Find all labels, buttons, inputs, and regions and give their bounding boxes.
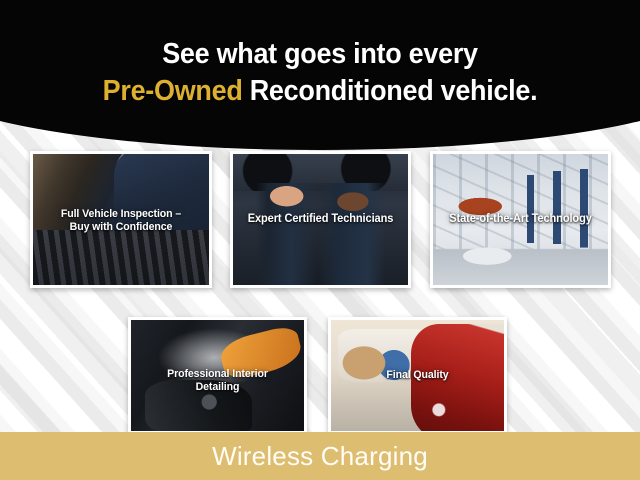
banner-label: Wireless Charging [212, 441, 428, 472]
headline-accent-text: Pre-Owned [103, 75, 243, 107]
feature-card-full-vehicle-inspection[interactable]: Full Vehicle Inspection – Buy with Confi… [30, 151, 212, 288]
headline-rest-text: Reconditioned vehicle. [243, 75, 538, 107]
headline-line-1: See what goes into every [22, 36, 617, 73]
headline-line-2: Pre-Owned Reconditioned vehicle. [22, 73, 617, 110]
card-caption: Full Vehicle Inspection – Buy with Confi… [37, 208, 204, 234]
card-caption: Expert Certified Technicians [237, 213, 403, 227]
card-caption: Final Quality [335, 369, 499, 382]
wireless-charging-banner: Wireless Charging [0, 432, 640, 480]
promo-graphic: See what goes into every Pre-Owned Recon… [0, 0, 640, 480]
feature-card-state-of-the-art-technology[interactable]: State-of-the-Art Technology [430, 151, 611, 288]
feature-card-professional-interior-detailing[interactable]: Professional Interior Detailing [128, 317, 307, 434]
feature-card-expert-certified-technicians[interactable]: Expert Certified Technicians [230, 151, 411, 288]
card-caption: Professional Interior Detailing [135, 368, 299, 394]
card-caption: State-of-the-Art Technology [437, 213, 603, 227]
hero-headline: See what goes into every Pre-Owned Recon… [0, 36, 640, 110]
feature-card-final-quality[interactable]: Final Quality [328, 317, 507, 434]
